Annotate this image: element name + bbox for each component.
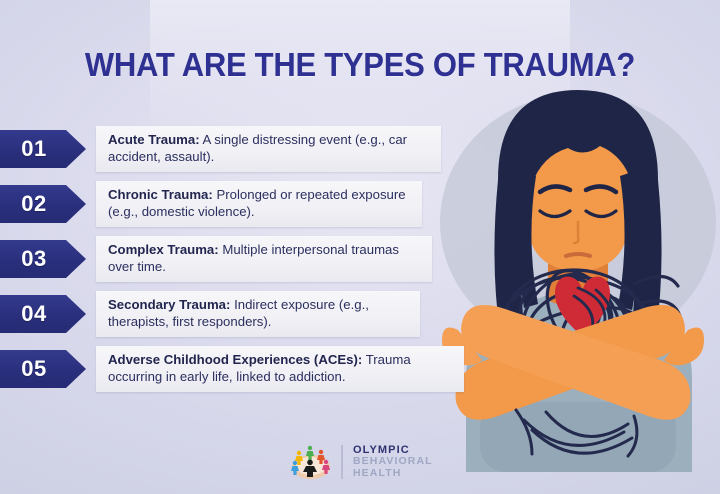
list-item-panel: Secondary Trauma: Indirect exposure (e.g… [96,291,420,337]
list-item: 01 Acute Trauma: A single distressing ev… [0,126,470,173]
infographic-canvas: WHAT ARE THE TYPES OF TRAUMA? [0,0,720,494]
list-item-number: 02 [0,185,68,223]
logo-wordmark: OLYMPIC BEHAVIORAL HEALTH [353,445,433,480]
mouth [566,254,590,256]
list-item-number-badge: 05 [0,350,86,388]
list-item-panel: Acute Trauma: A single distressing event… [96,126,441,172]
illustration-woman-hugging-self [428,72,720,472]
trauma-types-list: 01 Acute Trauma: A single distressing ev… [0,126,470,401]
list-item-number: 03 [0,240,68,278]
list-item-panel: Chronic Trauma: Prolonged or repeated ex… [96,181,422,227]
list-item-number-badge: 04 [0,295,86,333]
list-item-term: Acute Trauma: [108,132,200,147]
list-item: 03 Complex Trauma: Multiple interpersona… [0,236,470,283]
list-item-panel: Complex Trauma: Multiple interpersonal t… [96,236,432,282]
list-item-number: 01 [0,130,68,168]
list-item-number-badge: 02 [0,185,86,223]
list-item-term: Secondary Trauma: [108,297,230,312]
list-item: 02 Chronic Trauma: Prolonged or repeated… [0,181,470,228]
list-item-number: 04 [0,295,68,333]
logo-divider [341,445,343,479]
brand-logo: OLYMPIC BEHAVIORAL HEALTH [287,438,457,486]
list-item-number-badge: 03 [0,240,86,278]
list-item-number-badge: 01 [0,130,86,168]
list-item: 04 Secondary Trauma: Indirect exposure (… [0,291,470,338]
list-item-number: 05 [0,350,68,388]
list-item: 05 Adverse Childhood Experiences (ACEs):… [0,346,470,393]
list-item-term: Chronic Trauma: [108,187,213,202]
list-item-term: Adverse Childhood Experiences (ACEs): [108,352,362,367]
list-item-panel: Adverse Childhood Experiences (ACEs): Tr… [96,346,464,392]
olympic-behavioral-health-logo-icon [287,441,335,483]
logo-line-3: HEALTH [353,468,433,480]
list-item-term: Complex Trauma: [108,242,219,257]
